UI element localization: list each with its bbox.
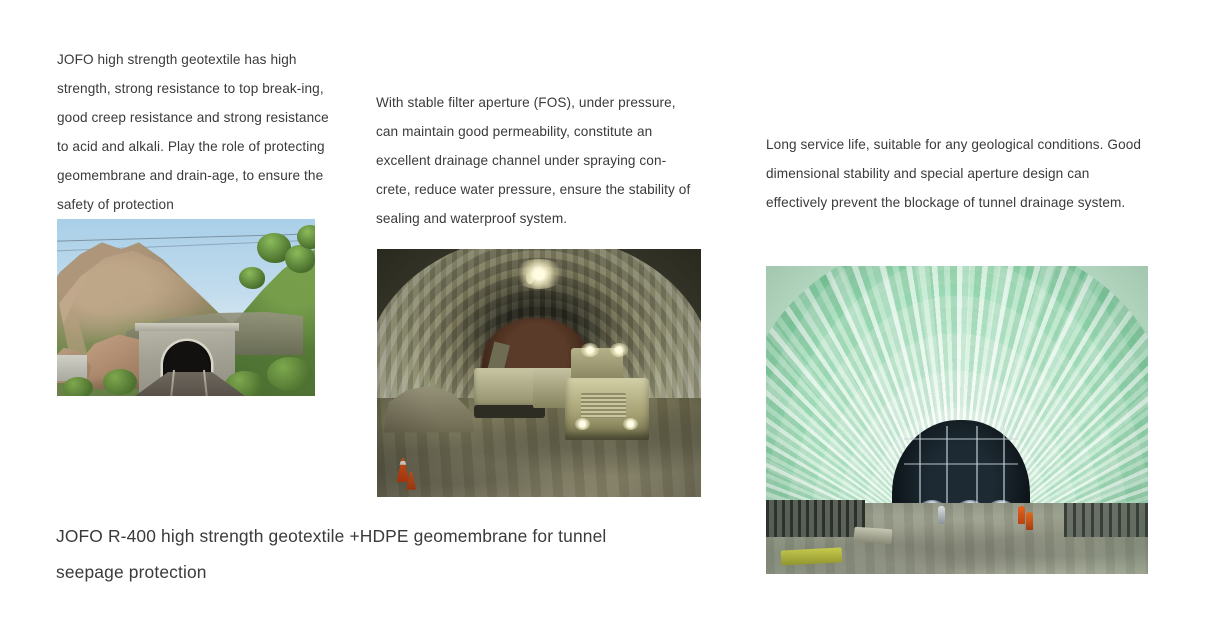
feature-text-durability: Long service life, suitable for any geol… <box>766 130 1154 217</box>
portal-coping <box>135 323 239 331</box>
photo-tunnel-geomembrane <box>766 266 1148 574</box>
bush <box>103 369 137 395</box>
tree <box>285 245 315 273</box>
product-caption: JOFO R-400 high strength geotextile +HDP… <box>56 518 676 590</box>
photo-tunnel-construction <box>377 249 701 497</box>
feature-text-strength: JOFO high strength geotextile has high s… <box>57 45 332 219</box>
tunnel-geomembrane-scene <box>766 266 1148 574</box>
tree <box>239 267 265 289</box>
photo-vignette <box>377 249 701 497</box>
tunnel-portal-scene <box>57 219 315 396</box>
photo-vignette <box>766 266 1148 574</box>
photo-tunnel-portal <box>57 219 315 396</box>
tunnel-construction-scene <box>377 249 701 497</box>
bush <box>63 377 93 396</box>
feature-text-drainage: With stable filter aperture (FOS), under… <box>376 88 696 233</box>
bush <box>267 357 313 391</box>
product-page: JOFO high strength geotextile has high s… <box>0 0 1214 629</box>
